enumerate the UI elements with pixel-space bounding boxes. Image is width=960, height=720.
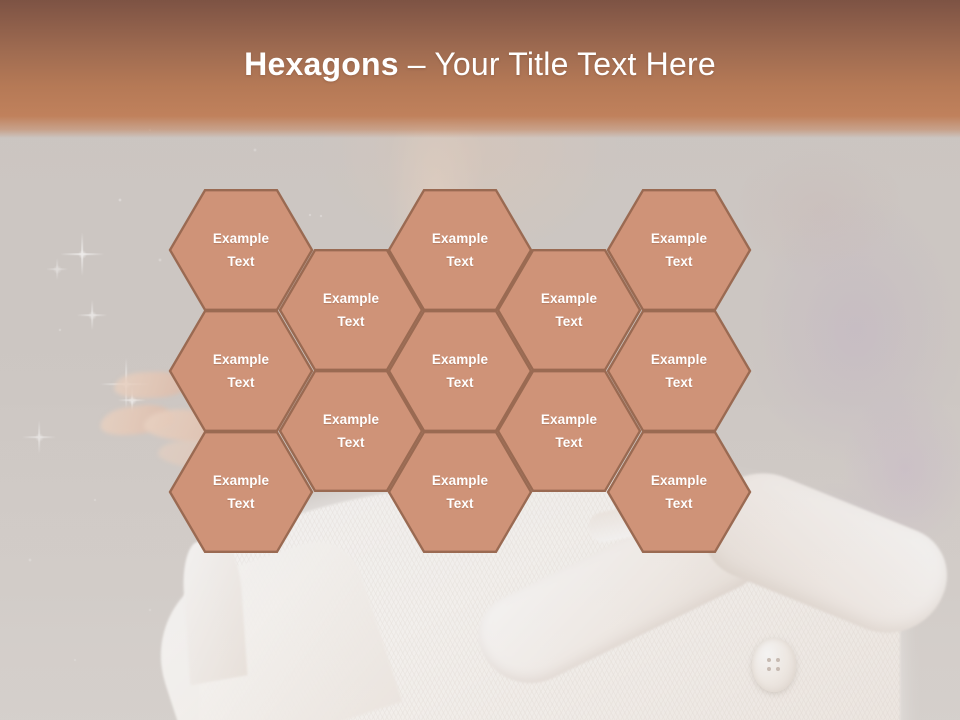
hexagon-shape-hex-c5-r1[interactable]: Example Text <box>607 189 751 311</box>
hexagon-outline-icon <box>607 310 751 432</box>
hexagon-shape-hex-c5-r3[interactable]: Example Text <box>607 431 751 553</box>
hexagon-shape-hex-c5-r2[interactable]: Example Text <box>607 310 751 432</box>
hexagon-outline-icon <box>607 189 751 311</box>
hexagon-outline-icon <box>607 431 751 553</box>
hexagon-grid: Example TextExample TextExample TextExam… <box>0 0 960 720</box>
slide-canvas: Hexagons – Your Title Text Here Example … <box>0 0 960 720</box>
